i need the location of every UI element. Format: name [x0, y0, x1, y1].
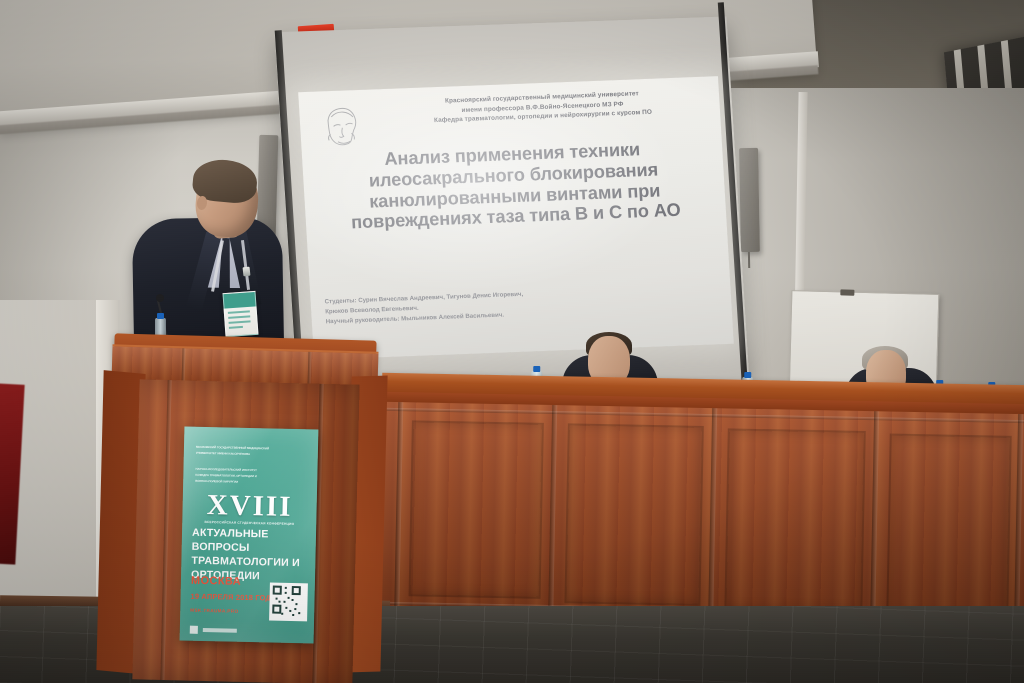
speaker-conference-badge [223, 291, 259, 337]
slide-organization: Красноярский государственный медицинский… [383, 87, 703, 128]
whiteboard-clip [840, 289, 854, 295]
portrait-emblem [315, 102, 370, 156]
projected-slide: Красноярский государственный медицинский… [298, 76, 734, 360]
conference-photo-scene: Красноярский государственный медицинский… [0, 0, 1024, 683]
podium-microphone [156, 294, 164, 302]
bottle-cap [157, 313, 164, 319]
speaker-lapel-pin [243, 267, 251, 277]
slide-title: Анализ применения техники илеосакральног… [310, 136, 719, 234]
slide-authors: Студенты: Сурин Вячеслав Андреевич, Тигу… [324, 285, 656, 327]
bottle-cap [744, 372, 751, 378]
wall-speaker-right [739, 148, 760, 252]
conference-poster: МОСКОВСКИЙ ГОСУДАРСТВЕННЫЙ МЕДИЦИНСКИЙ У… [180, 427, 319, 644]
bottle-cap [533, 366, 540, 372]
poster-glare [180, 427, 319, 644]
